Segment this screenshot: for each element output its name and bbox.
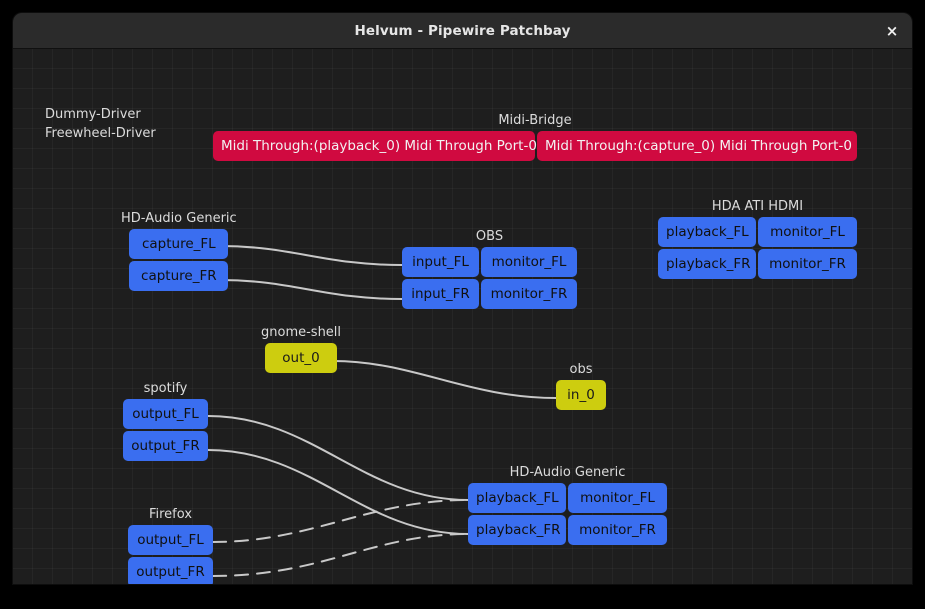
node-title: gnome-shell xyxy=(261,325,341,341)
node-title: OBS xyxy=(476,229,503,245)
port-row: playback_FLmonitor_FL xyxy=(658,217,857,247)
port-playback-fr[interactable]: playback_FR xyxy=(468,515,566,545)
port-row: capture_FL xyxy=(129,229,228,259)
port-playback-fl[interactable]: playback_FL xyxy=(658,217,756,247)
app-window: Helvum - Pipewire Patchbay × Dummy-Drive… xyxy=(13,13,912,584)
port-row: output_FL xyxy=(123,399,208,429)
node-hd-audio-generic-playback[interactable]: HD-Audio Genericplayback_FLmonitor_FLpla… xyxy=(468,465,667,545)
port-grid: out_0 xyxy=(265,343,337,373)
edge-gnomeout-obsin[interactable] xyxy=(333,361,556,398)
node-obs-source[interactable]: obsin_0 xyxy=(556,362,606,410)
port-grid: output_FLoutput_FR xyxy=(128,525,213,584)
port-input-fl[interactable]: input_FL xyxy=(402,247,479,277)
node-firefox[interactable]: Firefoxoutput_FLoutput_FR xyxy=(128,507,213,584)
port-output-fr[interactable]: output_FR xyxy=(128,557,213,584)
port-monitor-fl[interactable]: monitor_FL xyxy=(758,217,857,247)
edge-spotifyfr-playbackfr[interactable] xyxy=(208,450,468,534)
port-monitor-fr[interactable]: monitor_FR xyxy=(481,279,577,309)
port-output-fl[interactable]: output_FL xyxy=(128,525,213,555)
driver-label: Freewheel-Driver xyxy=(45,124,156,143)
port-playback-fl[interactable]: playback_FL xyxy=(468,483,566,513)
port-monitor-fr[interactable]: monitor_FR xyxy=(568,515,667,545)
port-midi-through-capture-0-midi-through-port-0[interactable]: Midi Through:(capture_0) Midi Through Po… xyxy=(537,131,857,161)
port-row: input_FRmonitor_FR xyxy=(402,279,577,309)
node-title: Firefox xyxy=(149,507,192,523)
port-grid: playback_FLmonitor_FLplayback_FRmonitor_… xyxy=(468,483,667,545)
port-grid: output_FLoutput_FR xyxy=(123,399,208,461)
port-midi-through-playback-0-midi-through-port-0[interactable]: Midi Through:(playback_0) Midi Through P… xyxy=(213,131,535,161)
port-in-0[interactable]: in_0 xyxy=(556,380,606,410)
port-out-0[interactable]: out_0 xyxy=(265,343,337,373)
port-row: output_FR xyxy=(123,431,208,461)
node-title: HD-Audio Generic xyxy=(121,211,237,227)
port-capture-fl[interactable]: capture_FL xyxy=(129,229,228,259)
edge-firefoxfr-playbackfr[interactable] xyxy=(213,534,468,576)
port-row: Midi Through:(playback_0) Midi Through P… xyxy=(213,131,857,161)
port-row: playback_FRmonitor_FR xyxy=(658,249,857,279)
node-title: Midi-Bridge xyxy=(498,113,571,129)
node-title: obs xyxy=(570,362,593,378)
titlebar[interactable]: Helvum - Pipewire Patchbay × xyxy=(13,13,912,49)
node-title: spotify xyxy=(144,381,188,397)
port-row: capture_FR xyxy=(129,261,228,291)
port-playback-fr[interactable]: playback_FR xyxy=(658,249,756,279)
port-grid: Midi Through:(playback_0) Midi Through P… xyxy=(213,131,857,161)
port-row: out_0 xyxy=(265,343,337,373)
node-spotify[interactable]: spotifyoutput_FLoutput_FR xyxy=(123,381,208,461)
port-monitor-fl[interactable]: monitor_FL xyxy=(568,483,667,513)
port-input-fr[interactable]: input_FR xyxy=(402,279,479,309)
port-row: playback_FRmonitor_FR xyxy=(468,515,667,545)
port-grid: capture_FLcapture_FR xyxy=(129,229,228,291)
port-monitor-fl[interactable]: monitor_FL xyxy=(481,247,577,277)
close-icon[interactable]: × xyxy=(878,17,906,45)
driver-label: Dummy-Driver xyxy=(45,105,141,124)
node-midi-bridge[interactable]: Midi-BridgeMidi Through:(playback_0) Mid… xyxy=(213,113,857,161)
edge-capfl-obsinfl[interactable] xyxy=(220,246,402,265)
node-title: HD-Audio Generic xyxy=(510,465,626,481)
port-grid: playback_FLmonitor_FLplayback_FRmonitor_… xyxy=(658,217,857,279)
port-row: playback_FLmonitor_FL xyxy=(468,483,667,513)
edge-spotifyfl-playbackfl[interactable] xyxy=(208,416,468,500)
port-row: output_FR xyxy=(128,557,213,584)
port-grid: in_0 xyxy=(556,380,606,410)
port-grid: input_FLmonitor_FLinput_FRmonitor_FR xyxy=(402,247,577,309)
port-capture-fr[interactable]: capture_FR xyxy=(129,261,228,291)
node-hda-ati-hdmi[interactable]: HDA ATI HDMIplayback_FLmonitor_FLplaybac… xyxy=(658,199,857,279)
node-gnome-shell[interactable]: gnome-shellout_0 xyxy=(261,325,341,373)
window-title: Helvum - Pipewire Patchbay xyxy=(355,23,571,39)
edge-capfr-obsinfr[interactable] xyxy=(220,280,402,299)
port-output-fr[interactable]: output_FR xyxy=(123,431,208,461)
node-hd-audio-generic-capture[interactable]: HD-Audio Genericcapture_FLcapture_FR xyxy=(121,211,237,291)
node-title: HDA ATI HDMI xyxy=(712,199,803,215)
port-row: in_0 xyxy=(556,380,606,410)
edge-firefoxfl-playbackfl[interactable] xyxy=(213,500,468,542)
port-output-fl[interactable]: output_FL xyxy=(123,399,208,429)
port-row: input_FLmonitor_FL xyxy=(402,247,577,277)
node-obs-sink[interactable]: OBSinput_FLmonitor_FLinput_FRmonitor_FR xyxy=(402,229,577,309)
port-row: output_FL xyxy=(128,525,213,555)
port-monitor-fr[interactable]: monitor_FR xyxy=(758,249,857,279)
graph-canvas[interactable]: Dummy-DriverFreewheel-Driver Midi-Bridge… xyxy=(13,49,912,584)
